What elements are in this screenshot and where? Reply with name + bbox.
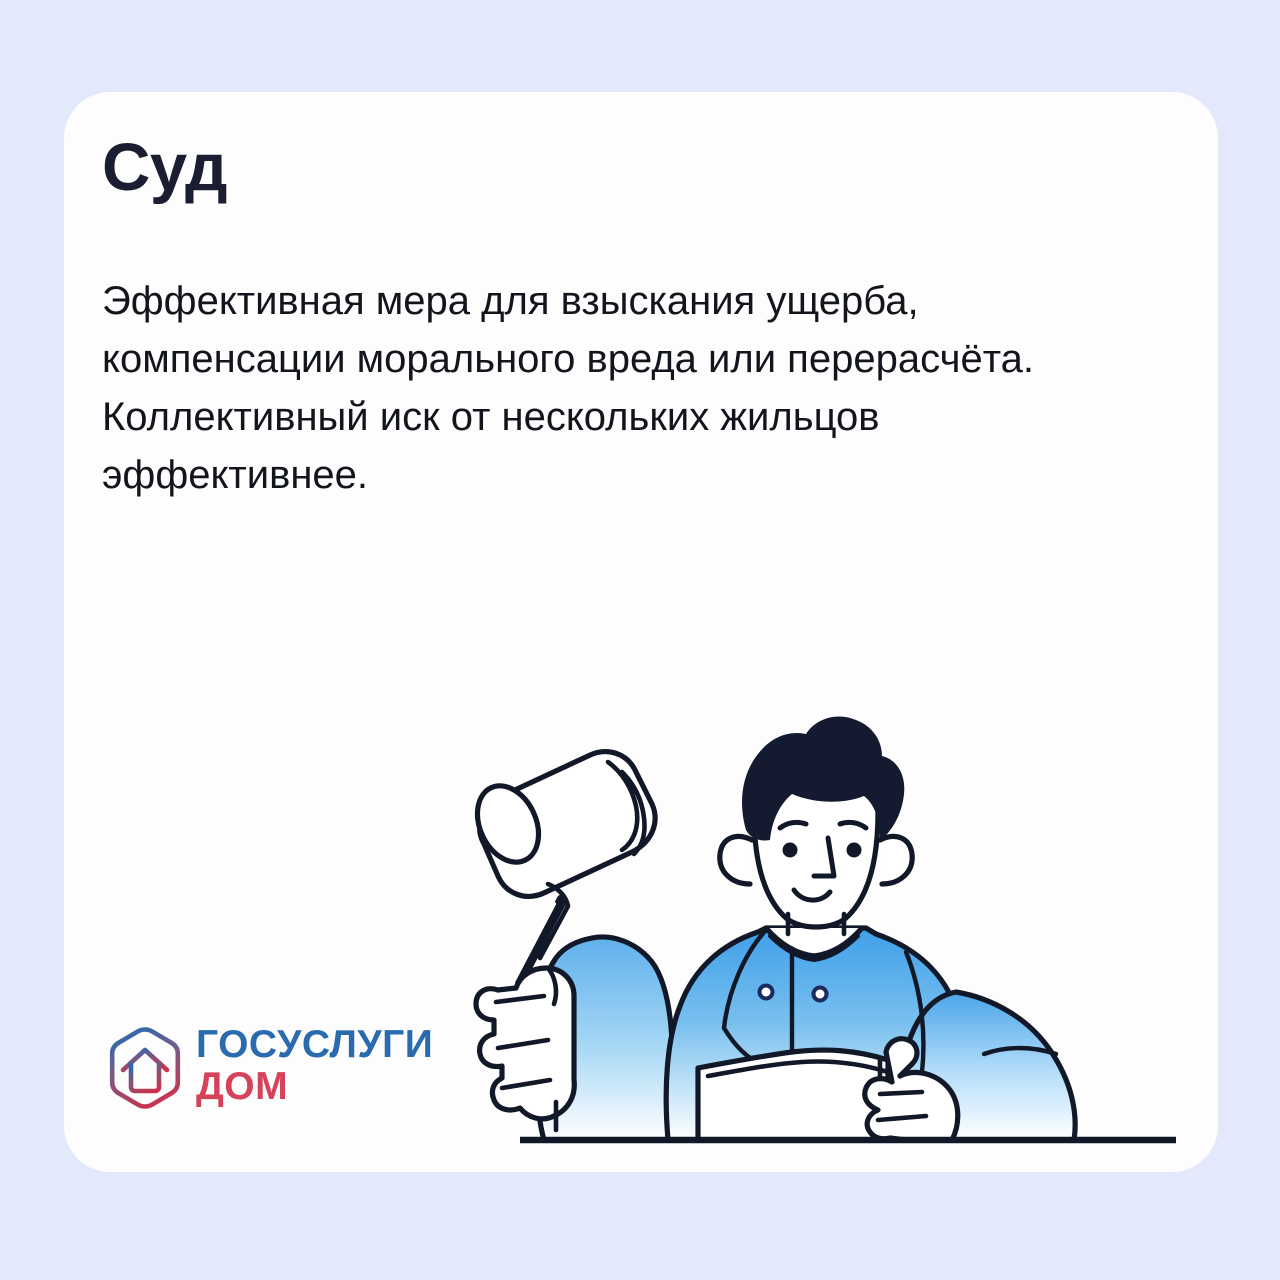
- hexagon-house-icon: [106, 1024, 184, 1112]
- logo-line-dom: ДОМ: [196, 1066, 433, 1108]
- body-line: Эффективная мера для взыскания ущерба,: [102, 272, 1132, 330]
- judge-with-gavel-illustration: [436, 662, 1176, 1162]
- page-title: Суд: [102, 134, 227, 201]
- body-line: эффективнее.: [102, 446, 1132, 504]
- logo-line-gosuslugi: ГОСУСЛУГИ: [196, 1024, 433, 1066]
- info-card: Суд Эффективная мера для взыскания ущерб…: [64, 92, 1218, 1172]
- page-root: Суд Эффективная мера для взыскания ущерб…: [0, 0, 1280, 1280]
- logo-wordmark: ГОСУСЛУГИ ДОМ: [196, 1024, 433, 1108]
- body-line: Коллективный иск от нескольких жильцов: [102, 388, 1132, 446]
- card-body-text: Эффективная мера для взыскания ущерба, к…: [102, 272, 1132, 504]
- body-line: компенсации морального вреда или перерас…: [102, 330, 1132, 388]
- brand-logo[interactable]: ГОСУСЛУГИ ДОМ: [106, 1020, 416, 1116]
